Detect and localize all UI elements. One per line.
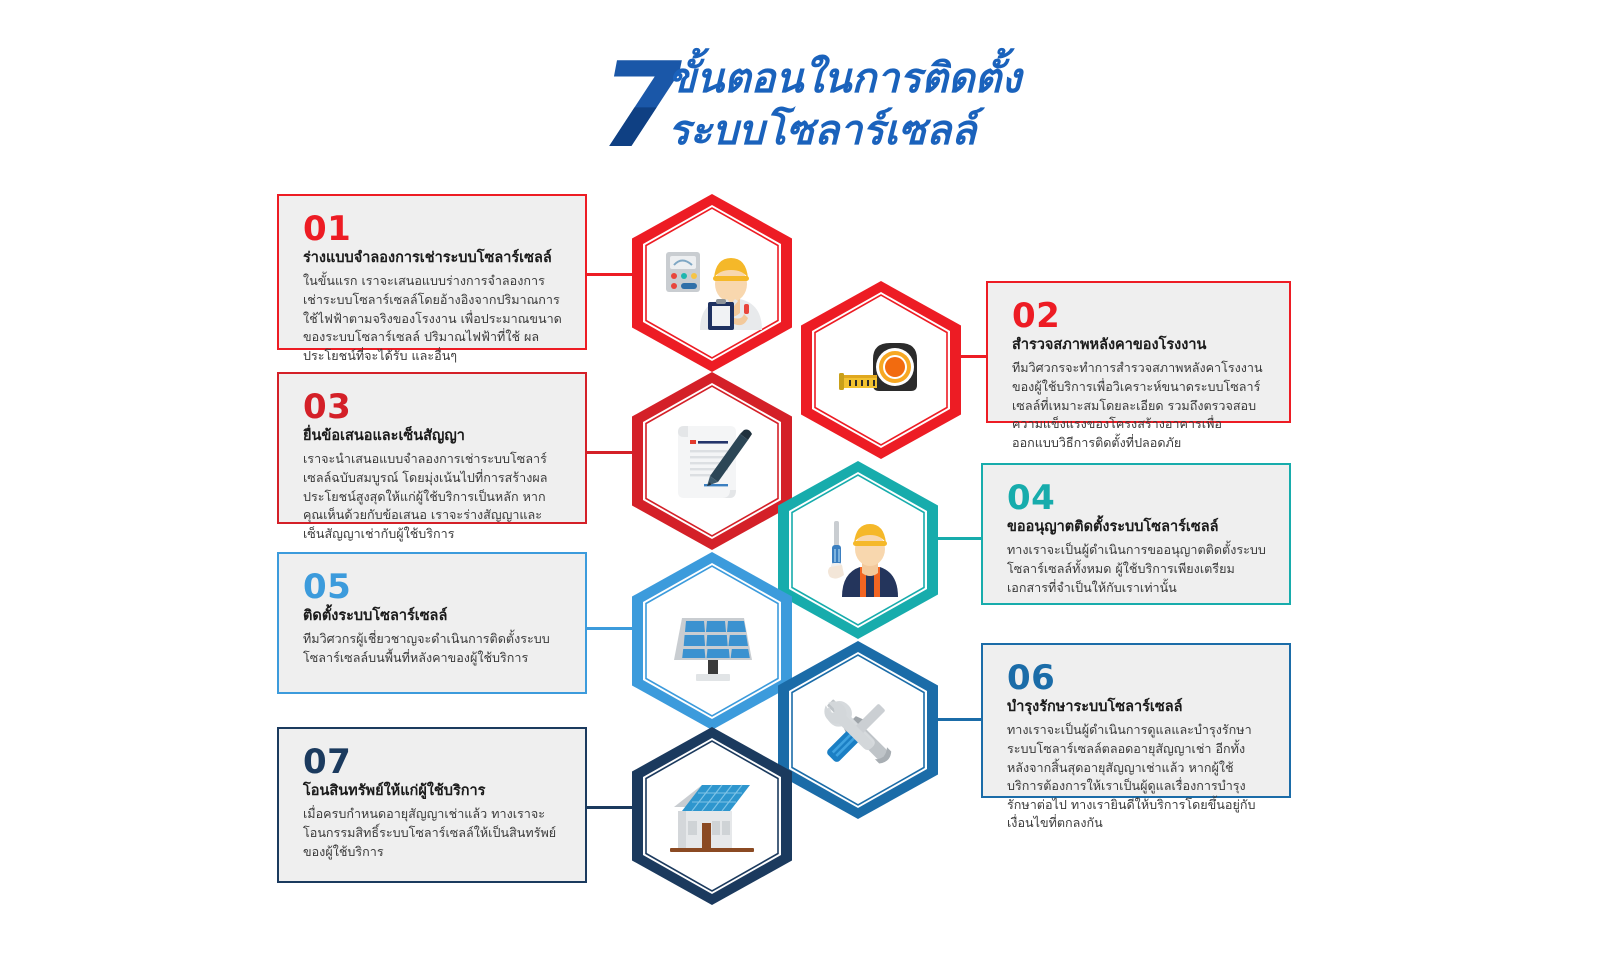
infographic-canvas: 7 7 ขั้นตอนในการติดตั้ง ระบบโซลาร์เซลล์ … — [0, 0, 1616, 961]
step-number-07: 07 — [303, 745, 563, 781]
title-line-1: ขั้นตอนในการติดตั้ง — [668, 52, 1021, 104]
hexagon-05[interactable] — [632, 552, 792, 730]
engineer-clipboard-icon — [660, 238, 764, 330]
step-body-02: ทีมวิศวกรจะทำการสำรวจสภาพหลังคาโรงงานของ… — [1012, 359, 1267, 452]
step-number-06: 06 — [1007, 661, 1267, 697]
page-title: 7 7 ขั้นตอนในการติดตั้ง ระบบโซลาร์เซลล์ — [590, 48, 1070, 168]
solar-panel-icon — [660, 596, 764, 688]
step-heading-01: ร่างแบบจำลองการเช่าระบบโซลาร์เซลล์ — [303, 249, 563, 269]
house-solar-icon — [660, 771, 764, 863]
title-line-2: ระบบโซลาร์เซลล์ — [668, 104, 1021, 156]
step-card-04[interactable]: 04ขออนุญาตติดตั้งระบบโซลาร์เซลล์ทางเราจะ… — [981, 463, 1291, 605]
hexagon-04[interactable] — [778, 461, 938, 639]
step-number-04: 04 — [1007, 481, 1267, 517]
worker-screwdriver-icon — [806, 505, 910, 597]
hexagon-06[interactable] — [778, 641, 938, 819]
step-heading-07: โอนสินทรัพย์ให้แก่ผู้ใช้บริการ — [303, 782, 563, 802]
step-heading-03: ยื่นข้อเสนอและเซ็นสัญญา — [303, 427, 563, 447]
step-number-02: 02 — [1012, 299, 1267, 335]
title-lines: ขั้นตอนในการติดตั้ง ระบบโซลาร์เซลล์ — [668, 52, 1021, 157]
step-card-02[interactable]: 02สำรวจสภาพหลังคาของโรงงานทีมวิศวกรจะทำก… — [986, 281, 1291, 423]
wrench-screwdriver-icon — [806, 685, 910, 777]
step-card-07[interactable]: 07โอนสินทรัพย์ให้แก่ผู้ใช้บริการเมื่อครบ… — [277, 727, 587, 883]
step-body-06: ทางเราจะเป็นผู้ดำเนินการดูแลและบำรุงรักษ… — [1007, 721, 1267, 833]
step-body-07: เมื่อครบกำหนดอายุสัญญาเช่าแล้ว ทางเราจะโ… — [303, 805, 563, 861]
step-heading-04: ขออนุญาตติดตั้งระบบโซลาร์เซลล์ — [1007, 518, 1267, 538]
step-number-01: 01 — [303, 212, 563, 248]
step-heading-06: บำรุงรักษาระบบโซลาร์เซลล์ — [1007, 698, 1267, 718]
step-heading-05: ติดตั้งระบบโซลาร์เซลล์ — [303, 607, 563, 627]
step-number-03: 03 — [303, 390, 563, 426]
hexagon-02[interactable] — [801, 281, 961, 459]
step-card-03[interactable]: 03ยื่นข้อเสนอและเซ็นสัญญาเราจะนำเสนอแบบจ… — [277, 372, 587, 524]
step-card-06[interactable]: 06บำรุงรักษาระบบโซลาร์เซลล์ทางเราจะเป็นผ… — [981, 643, 1291, 798]
hexagon-01[interactable] — [632, 194, 792, 372]
hexagon-07[interactable] — [632, 727, 792, 905]
step-number-05: 05 — [303, 570, 563, 606]
title-number: 7 7 — [600, 46, 678, 164]
step-card-05[interactable]: 05ติดตั้งระบบโซลาร์เซลล์ทีมวิศวกรผู้เชี่… — [277, 552, 587, 694]
step-body-01: ในขั้นแรก เราจะเสนอแบบร่างการจำลองการเช่… — [303, 272, 563, 365]
contract-pen-icon — [660, 416, 764, 508]
step-body-04: ทางเราจะเป็นผู้ดำเนินการขออนุญาตติดตั้งร… — [1007, 541, 1267, 597]
tape-measure-icon — [829, 325, 933, 417]
step-body-03: เราจะนำเสนอแบบจำลองการเช่าระบบโซลาร์เซลล… — [303, 450, 563, 543]
hexagon-03[interactable] — [632, 372, 792, 550]
step-body-05: ทีมวิศวกรผู้เชี่ยวชาญจะดำเนินการติดตั้งร… — [303, 630, 563, 667]
step-card-01[interactable]: 01ร่างแบบจำลองการเช่าระบบโซลาร์เซลล์ในขั… — [277, 194, 587, 350]
step-heading-02: สำรวจสภาพหลังคาของโรงงาน — [1012, 336, 1267, 356]
